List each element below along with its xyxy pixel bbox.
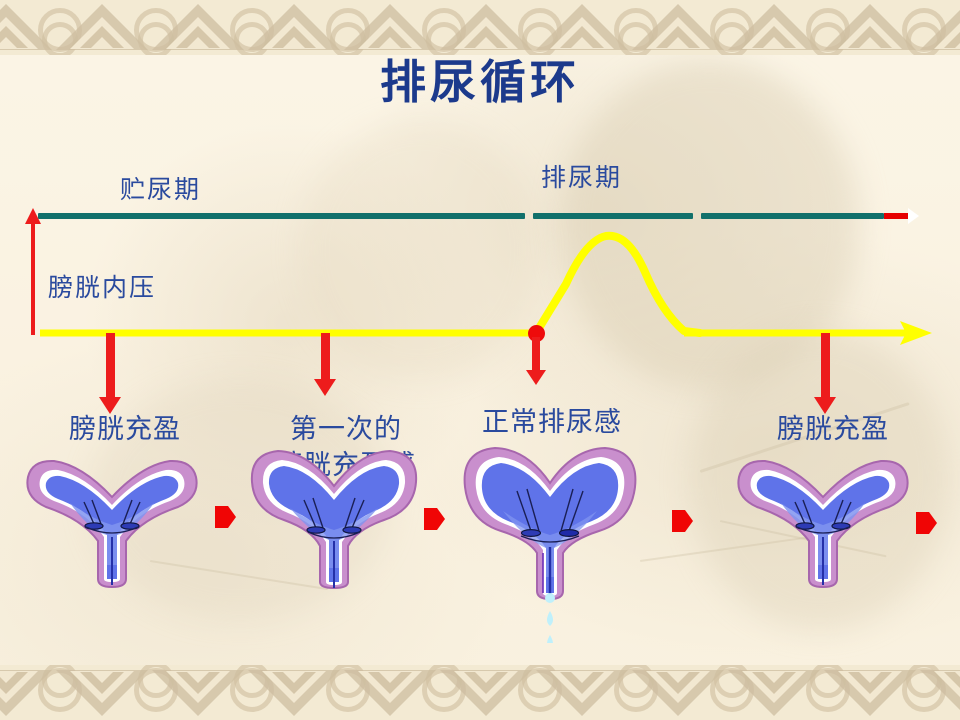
border-triangle-motif (91, 672, 113, 683)
stage-caption-3: 正常排尿感 (452, 405, 652, 441)
phase-bar-segment-2 (533, 213, 693, 219)
border-triangle-motif (283, 672, 305, 683)
page-title: 排尿循环 (0, 46, 960, 112)
drop-arrow-shaft-2 (321, 333, 330, 381)
border-triangle-motif (379, 672, 401, 683)
stage-caption-1: 膀胱充盈 (40, 412, 210, 448)
border-triangle-motif (475, 672, 497, 683)
background-wash (300, 120, 540, 380)
bladder-figure-full-voiding-3 (455, 443, 645, 648)
step-marker-1 (215, 506, 235, 528)
border-triangle-motif (955, 672, 960, 683)
drop-arrow-shaft-3 (532, 337, 540, 372)
border-triangle-motif (763, 672, 785, 683)
phase-label-voiding: 排尿期 (541, 158, 622, 194)
step-marker-3 (672, 510, 692, 532)
phase-bar-segment-3 (701, 213, 884, 219)
bladder-figure-partial-2 (244, 446, 424, 596)
y-axis-arrow-shaft (31, 222, 35, 335)
border-triangle-motif (187, 672, 209, 683)
border-triangle-motif (0, 672, 17, 683)
drop-arrow-head-3 (526, 370, 546, 385)
step-marker-4 (916, 512, 936, 534)
bladder-figure-empty-1 (22, 455, 202, 595)
bladder-figure-empty-4 (733, 455, 913, 595)
decorative-border-bottom (0, 665, 960, 720)
phase-bar-segment-1 (38, 213, 525, 219)
drop-arrow-head-2 (314, 379, 336, 396)
phase-label-storage: 贮尿期 (120, 170, 201, 206)
step-marker-2 (424, 508, 444, 530)
drop-arrow-shaft-1 (106, 333, 115, 399)
border-triangle-motif (571, 672, 593, 683)
slide-canvas: 排尿循环 贮尿期 排尿期 膀胱内压 膀胱充盈 第一次的 膀胱充盈感 正常排尿感 … (0, 0, 960, 720)
stage-caption-4: 膀胱充盈 (748, 412, 918, 448)
drop-arrow-shaft-4 (821, 333, 830, 399)
phase-bar-end-red (884, 213, 910, 219)
phase-bar-arrow-tip (908, 208, 919, 224)
border-triangle-motif (667, 672, 689, 683)
border-triangle-motif (859, 672, 881, 683)
y-axis-label: 膀胱内压 (48, 268, 156, 304)
